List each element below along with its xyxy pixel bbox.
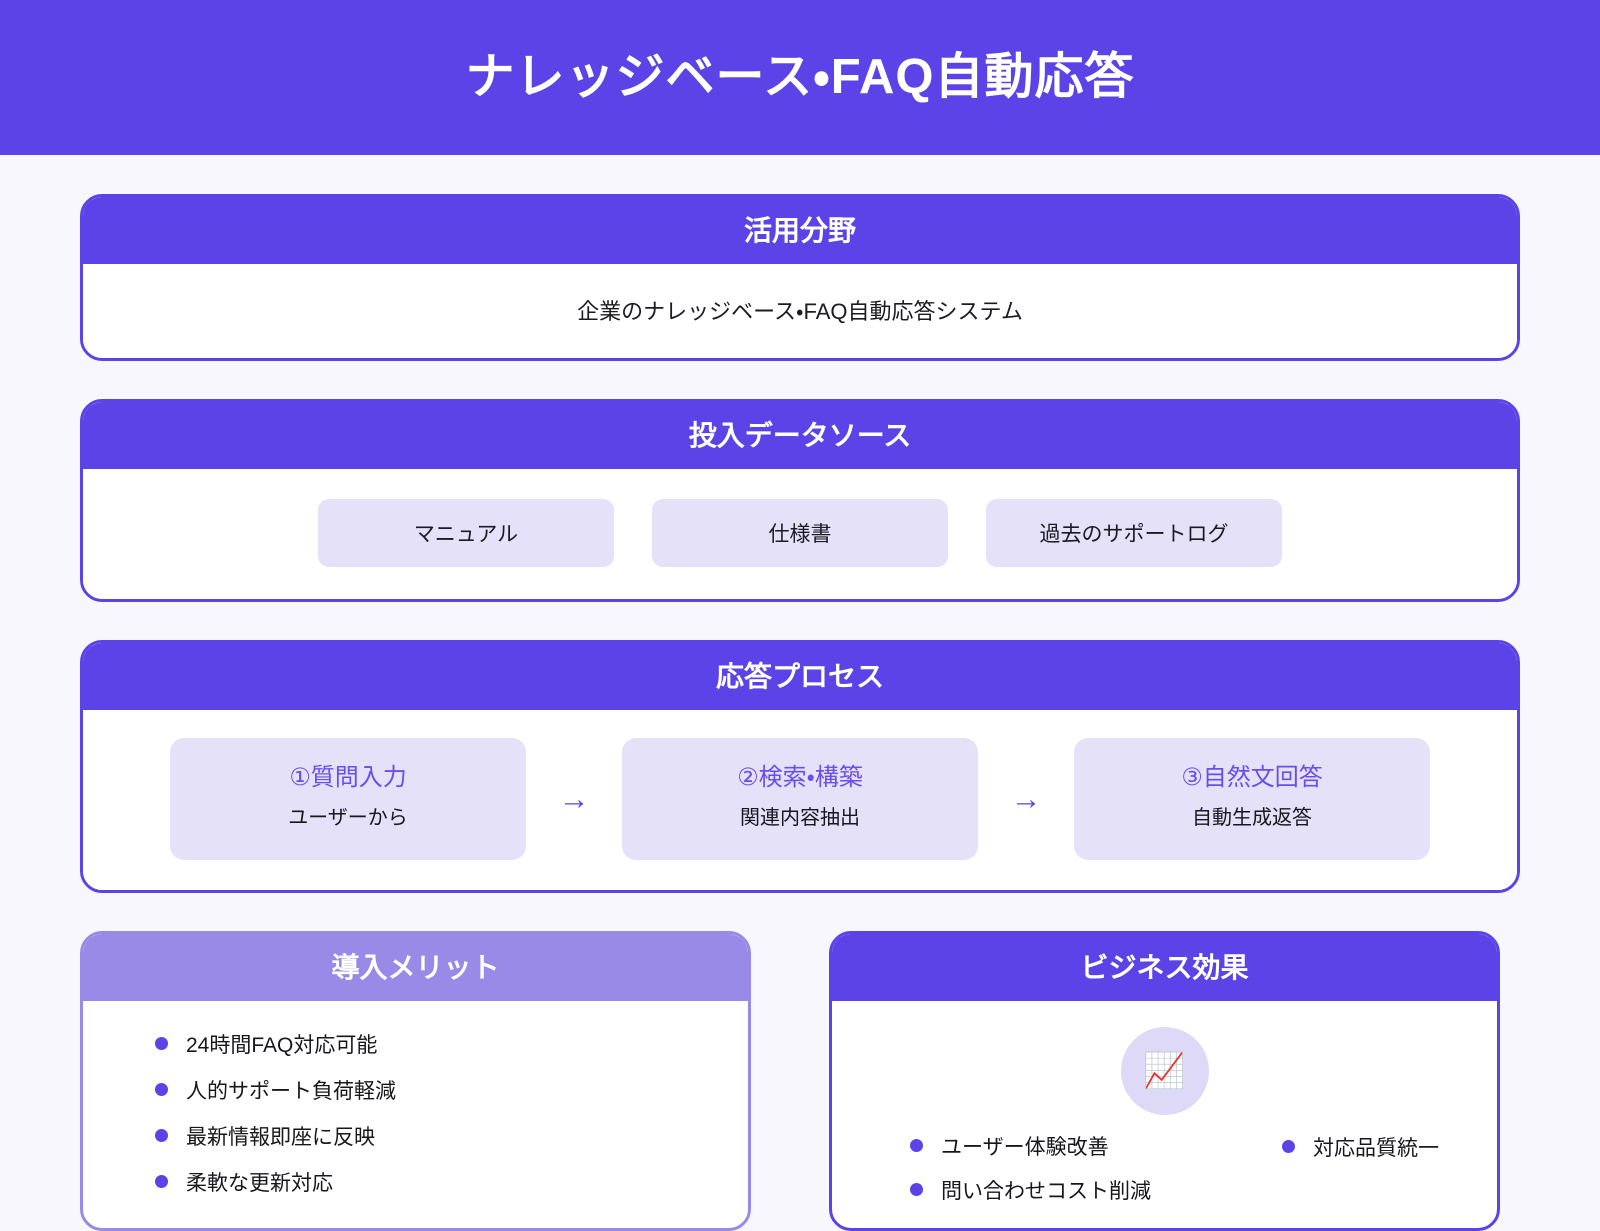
process-step-title: ①質問入力 bbox=[188, 764, 508, 793]
data-source-chip[interactable]: 過去のサポートログ bbox=[986, 499, 1282, 567]
list-item-label: 対応品質統一 bbox=[1313, 1132, 1439, 1162]
section-usage-field-heading: 活用分野 bbox=[82, 196, 1518, 264]
card-merits-heading: 導入メリット bbox=[82, 933, 749, 1001]
section-response-process: 応答プロセス ①質問入力 ユーザーから → ②検索・構築 関連内容抽出 → ③自… bbox=[80, 640, 1520, 893]
bullet-dot-icon bbox=[155, 1083, 168, 1096]
bullet-dot-icon bbox=[910, 1139, 923, 1152]
effect-icon-wrap: 📈 bbox=[862, 1023, 1467, 1115]
list-item-label: 最新情報即座に反映 bbox=[186, 1121, 375, 1151]
process-step-subtitle: 自動生成返答 bbox=[1092, 806, 1412, 830]
card-business-effects-body: 📈 ユーザー体験改善 問い合わせコスト削減 対応品質統一 bbox=[832, 1001, 1497, 1228]
process-flow-row: ①質問入力 ユーザーから → ②検索・構築 関連内容抽出 → ③自然文回答 自動… bbox=[107, 732, 1493, 864]
section-response-process-heading: 応答プロセス bbox=[82, 642, 1518, 710]
process-step[interactable]: ②検索・構築 関連内容抽出 bbox=[622, 738, 978, 860]
arrow-right-icon: → bbox=[526, 783, 622, 814]
section-usage-field-body: 企業のナレッジベース・FAQ自動応答システム bbox=[83, 264, 1517, 358]
bullet-dot-icon bbox=[155, 1175, 168, 1188]
process-step[interactable]: ③自然文回答 自動生成返答 bbox=[1074, 738, 1430, 860]
process-step-subtitle: 関連内容抽出 bbox=[640, 806, 960, 830]
list-item-label: ユーザー体験改善 bbox=[941, 1131, 1109, 1161]
card-business-effects-heading: ビジネス効果 bbox=[831, 933, 1498, 1001]
data-source-chip[interactable]: マニュアル bbox=[318, 499, 614, 567]
section-data-sources: 投入データソース マニュアル 仕様書 過去のサポートログ bbox=[80, 399, 1520, 602]
effects-list: ユーザー体験改善 問い合わせコスト削減 bbox=[862, 1115, 1302, 1205]
data-source-chip[interactable]: 仕様書 bbox=[652, 499, 948, 567]
card-merits: 導入メリット 24時間FAQ対応可能 人的サポート負荷軽減 最新情報即座に反映 bbox=[80, 931, 751, 1231]
list-item: ユーザー体験改善 bbox=[910, 1131, 1109, 1161]
list-item-label: 柔軟な更新対応 bbox=[186, 1167, 333, 1197]
bullet-dot-icon bbox=[155, 1037, 168, 1050]
data-source-chip-row: マニュアル 仕様書 過去のサポートログ bbox=[107, 491, 1493, 573]
list-item: 問い合わせコスト削減 bbox=[910, 1175, 1151, 1205]
process-step[interactable]: ①質問入力 ユーザーから bbox=[170, 738, 526, 860]
section-data-sources-body: マニュアル 仕様書 過去のサポートログ bbox=[83, 469, 1517, 599]
page-title: ナレッジベース・FAQ自動応答 bbox=[466, 51, 1135, 105]
process-step-title: ③自然文回答 bbox=[1092, 764, 1412, 793]
list-item: 人的サポート負荷軽減 bbox=[155, 1075, 718, 1105]
merits-list: 24時間FAQ対応可能 人的サポート負荷軽減 最新情報即座に反映 柔軟な更新対応 bbox=[113, 1023, 718, 1197]
process-step-subtitle: ユーザーから bbox=[188, 806, 508, 830]
arrow-right-icon: → bbox=[978, 783, 1074, 814]
page-content: 活用分野 企業のナレッジベース・FAQ自動応答システム 投入データソース マニュ… bbox=[0, 155, 1600, 1231]
list-item-label: 24時間FAQ対応可能 bbox=[186, 1029, 377, 1059]
bullet-dot-icon bbox=[1282, 1140, 1295, 1153]
section-response-process-body: ①質問入力 ユーザーから → ②検索・構築 関連内容抽出 → ③自然文回答 自動… bbox=[83, 710, 1517, 890]
list-item: 24時間FAQ対応可能 bbox=[155, 1029, 718, 1059]
list-item-label: 問い合わせコスト削減 bbox=[941, 1175, 1151, 1205]
chart-increasing-icon: 📈 bbox=[1121, 1027, 1209, 1115]
section-usage-field: 活用分野 企業のナレッジベース・FAQ自動応答システム bbox=[80, 194, 1520, 361]
card-business-effects: ビジネス効果 📈 ユーザー体験改善 問い合わせコスト削減 bbox=[829, 931, 1500, 1231]
header-banner: ナレッジベース・FAQ自動応答 bbox=[0, 0, 1600, 155]
list-item-label: 人的サポート負荷軽減 bbox=[186, 1075, 396, 1105]
bullet-dot-icon bbox=[910, 1183, 923, 1196]
list-item: 最新情報即座に反映 bbox=[155, 1121, 718, 1151]
usage-field-text: 企業のナレッジベース・FAQ自動応答システム bbox=[107, 286, 1493, 332]
card-merits-body: 24時間FAQ対応可能 人的サポート負荷軽減 最新情報即座に反映 柔軟な更新対応 bbox=[83, 1001, 748, 1228]
list-item: 柔軟な更新対応 bbox=[155, 1167, 718, 1197]
bottom-card-row: 導入メリット 24時間FAQ対応可能 人的サポート負荷軽減 最新情報即座に反映 bbox=[80, 931, 1520, 1231]
process-step-title: ②検索・構築 bbox=[640, 764, 960, 793]
bullet-dot-icon bbox=[155, 1129, 168, 1142]
list-item: 対応品質統一 bbox=[1282, 1132, 1439, 1162]
section-data-sources-heading: 投入データソース bbox=[82, 401, 1518, 469]
